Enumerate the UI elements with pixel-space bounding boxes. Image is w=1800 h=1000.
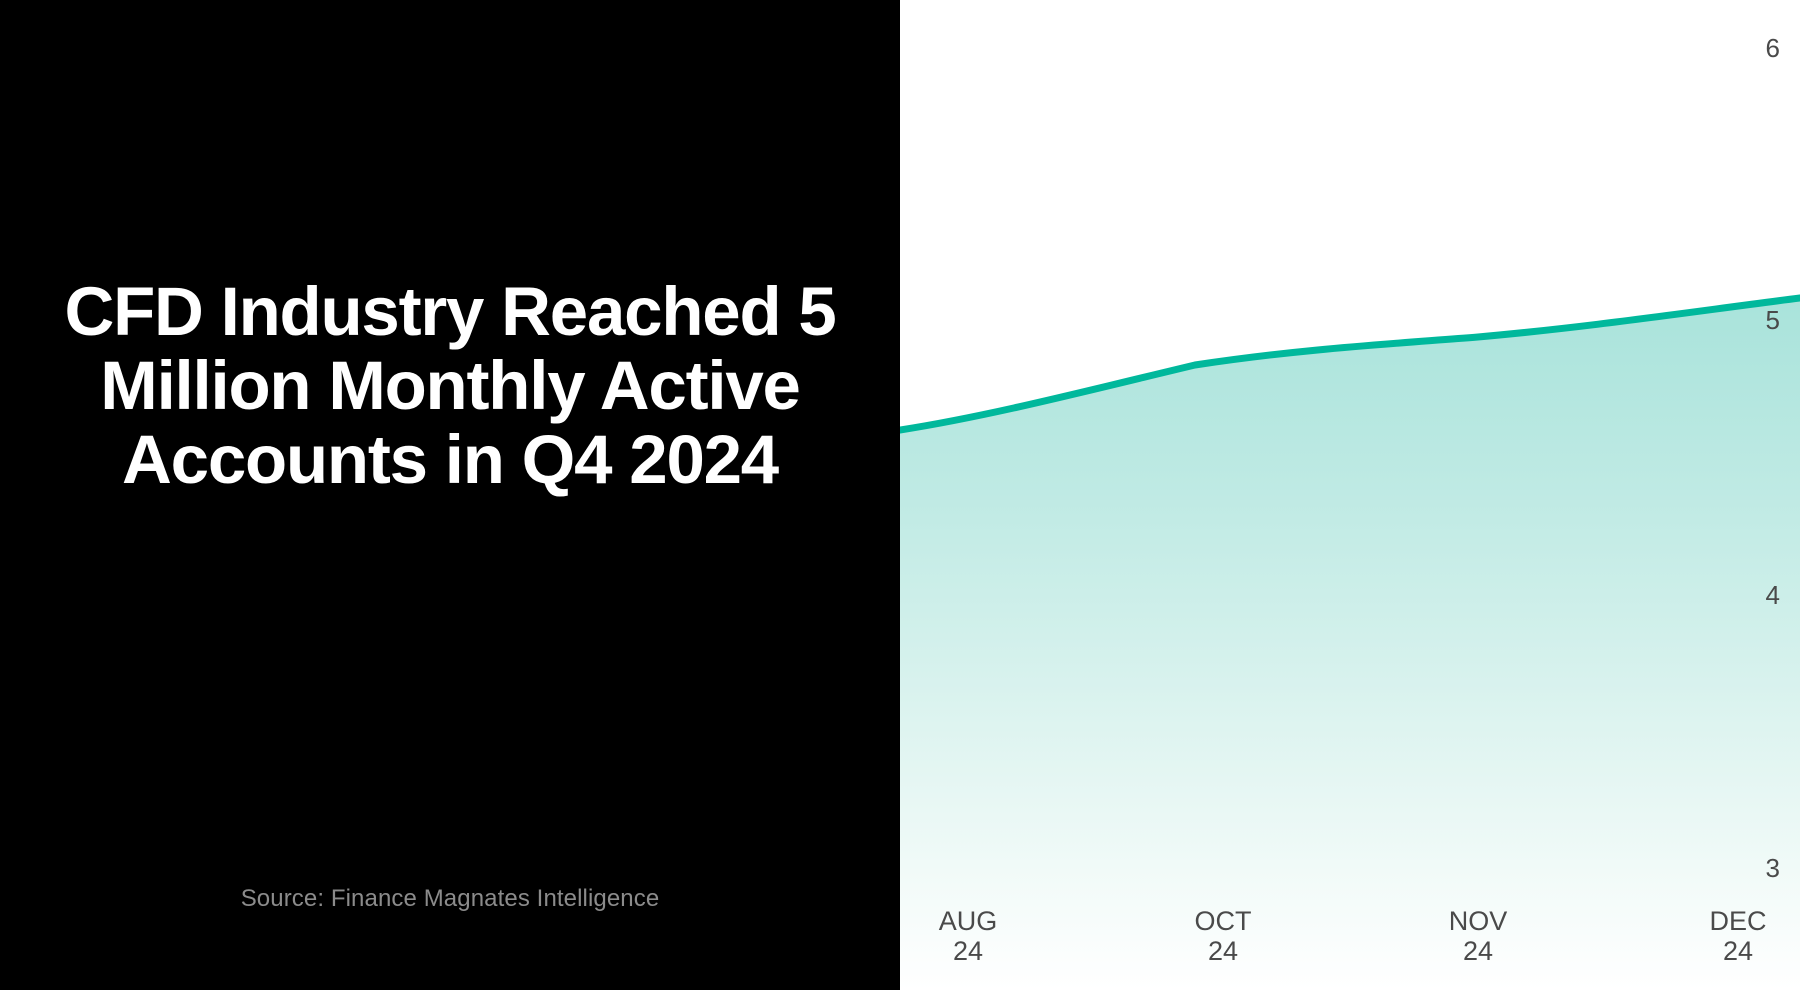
- x-axis-tick-oct: OCT 24: [1195, 906, 1252, 966]
- source-attribution: Source: Finance Magnates Intelligence: [60, 885, 840, 913]
- chart-panel: 6 5 4 3 AUG 24 OCT 24 NOV 24 DEC 24: [900, 0, 1800, 990]
- x-axis-tick-dec-year: 24: [1709, 936, 1766, 966]
- x-axis-tick-oct-year: 24: [1195, 936, 1252, 966]
- slide-canvas: CFD Industry Reached 5 Million Monthly A…: [0, 0, 1800, 1000]
- x-axis-tick-dec-month: DEC: [1709, 906, 1766, 936]
- area-chart: [900, 0, 1800, 990]
- y-axis-tick-3: 3: [1766, 855, 1780, 881]
- title-panel: CFD Industry Reached 5 Million Monthly A…: [0, 0, 900, 990]
- x-axis-tick-nov-year: 24: [1449, 936, 1508, 966]
- x-axis-tick-aug-month: AUG: [939, 906, 998, 936]
- page-title: CFD Industry Reached 5 Million Monthly A…: [60, 275, 840, 496]
- x-axis-tick-aug-year: 24: [939, 936, 998, 966]
- x-axis-tick-dec: DEC 24: [1709, 906, 1766, 966]
- y-axis-tick-4: 4: [1766, 582, 1780, 608]
- x-axis-tick-nov-month: NOV: [1449, 906, 1508, 936]
- y-axis-tick-6: 6: [1766, 35, 1780, 61]
- x-axis-tick-oct-month: OCT: [1195, 906, 1252, 936]
- x-axis-tick-nov: NOV 24: [1449, 906, 1508, 966]
- x-axis-tick-aug: AUG 24: [939, 906, 998, 966]
- y-axis-tick-5: 5: [1766, 307, 1780, 333]
